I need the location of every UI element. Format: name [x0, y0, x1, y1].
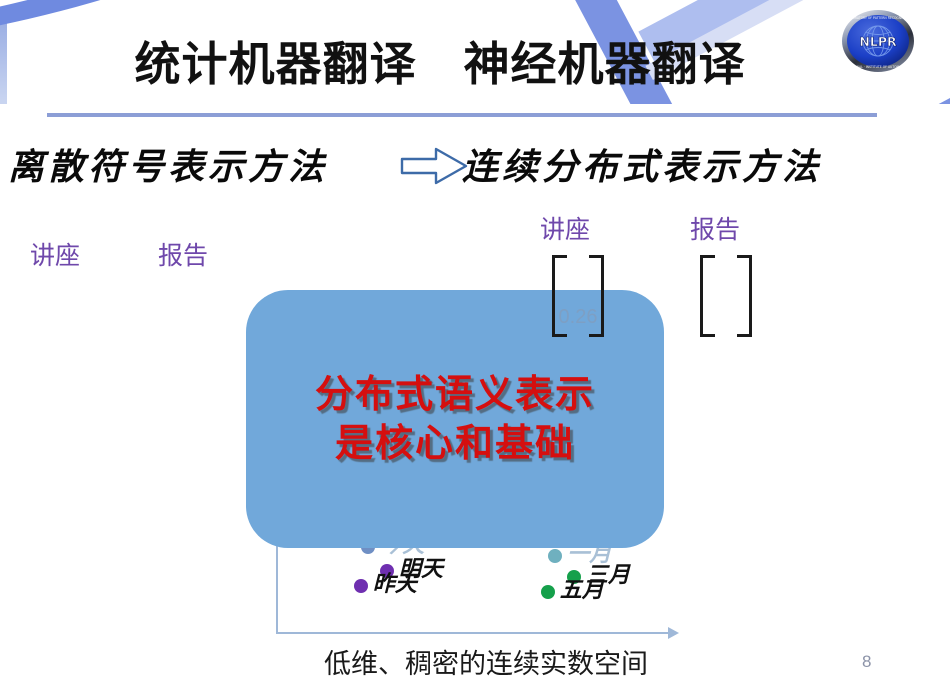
scatter-dot	[548, 549, 562, 563]
discrete-label-jiangzuo: 讲座	[30, 236, 80, 272]
discrete-label-baogao: 报告	[158, 236, 208, 272]
page-title: 统计机器翻译 神经机器翻译	[0, 28, 880, 94]
page-number: 8	[862, 652, 871, 672]
scatter-point-label: 昨天	[373, 566, 417, 598]
title-underline-rule	[47, 113, 877, 117]
x-axis-arrowhead-icon	[668, 627, 679, 639]
vector-value-jiangzuo: 0.26	[552, 306, 604, 329]
bracket-open-icon	[700, 255, 715, 337]
highlight-card-line-1: 分布式语义表示	[315, 370, 595, 419]
scatter-dot	[541, 585, 555, 599]
continuous-label-jiangzuo: 讲座	[540, 210, 590, 246]
slide-canvas: NLPR LABORATORY OF PATTERN RECOGNITION N…	[0, 0, 950, 700]
vector-bracket-jiangzuo: 0.26	[552, 255, 604, 331]
subtitle-right-text: 连续分布式表示方法	[462, 138, 822, 190]
continuous-label-baogao: 报告	[690, 210, 740, 246]
scatter-dot	[354, 579, 368, 593]
right-arrow-outline-icon	[400, 146, 470, 186]
x-axis-line	[276, 632, 672, 634]
plot-caption: 低维、稠密的连续实数空间	[276, 642, 696, 681]
bracket-close-icon	[737, 255, 752, 337]
vector-bracket-baogao	[700, 255, 752, 331]
highlight-card-line-2: 是核心和基础	[335, 419, 575, 468]
subtitle-left-text: 离散符号表示方法	[8, 138, 328, 190]
subtitle-row: 离散符号表示方法 连续分布式表示方法	[0, 138, 950, 196]
scatter-point-label: 五月	[560, 572, 604, 604]
svg-text:LABORATORY OF PATTERN RECOGNIT: LABORATORY OF PATTERN RECOGNITION	[846, 16, 910, 20]
